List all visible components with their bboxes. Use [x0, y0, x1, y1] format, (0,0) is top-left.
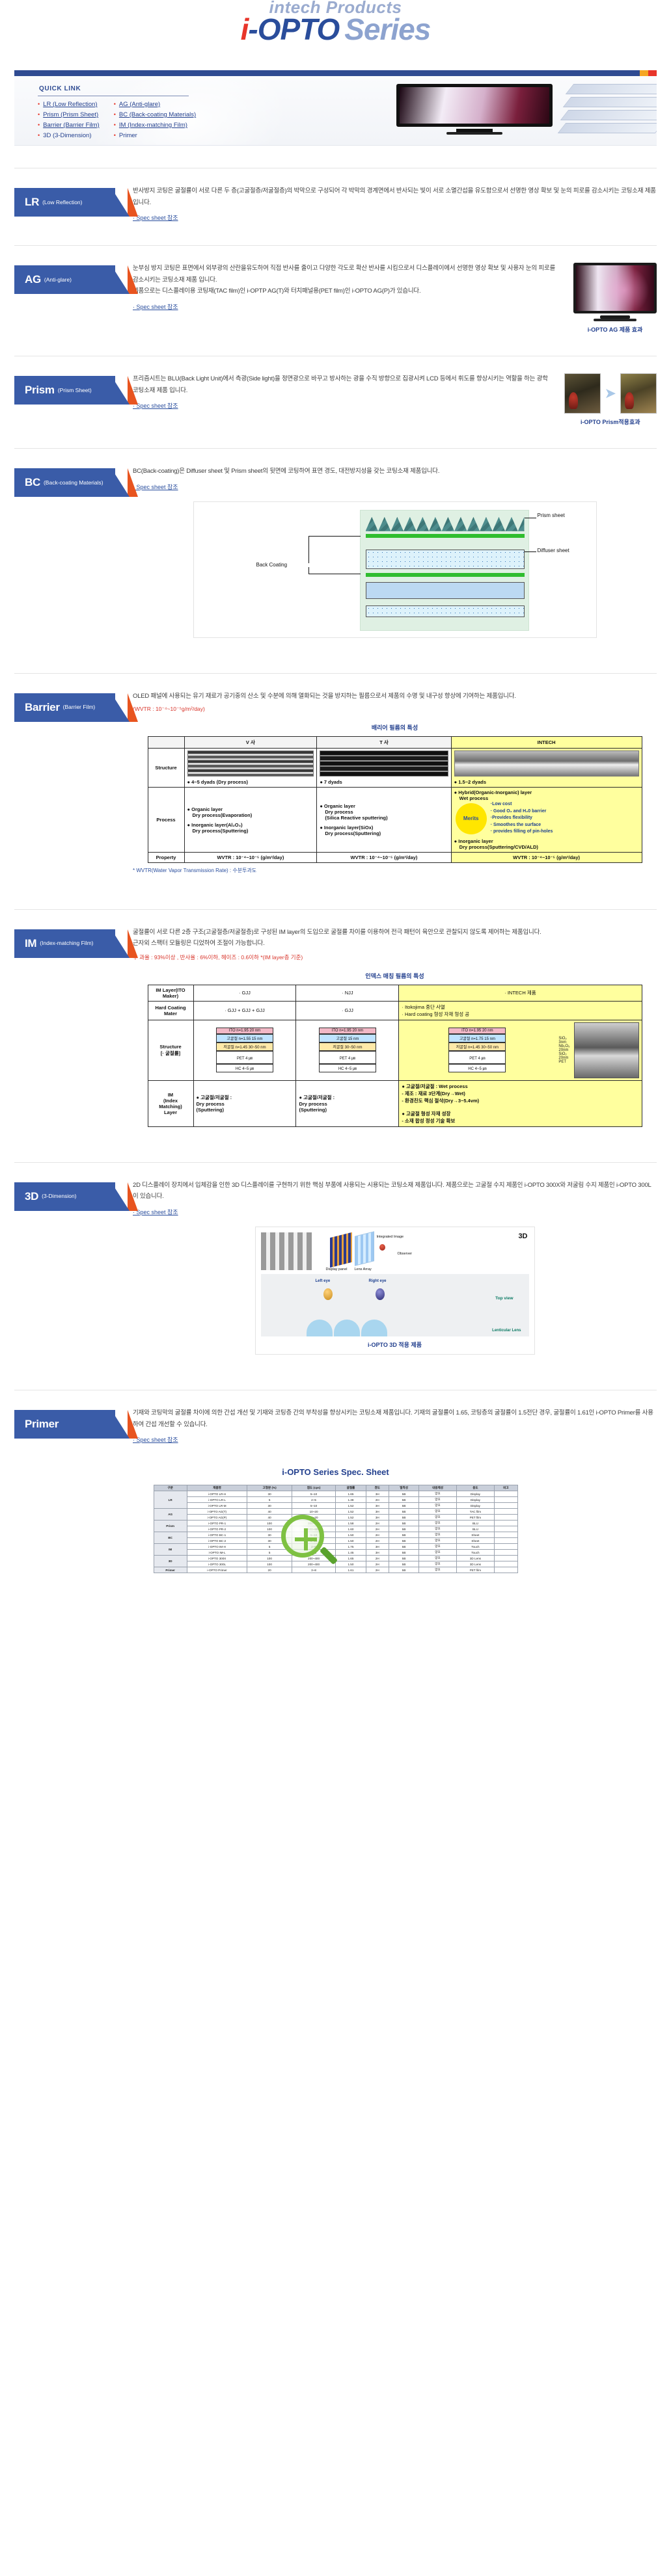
spec-sheet-link[interactable]: · Spec sheet 참조	[133, 1208, 178, 1216]
process-line: (Silica Reactive sputtering)	[320, 815, 448, 821]
section-abbr: AG	[25, 273, 41, 286]
row-header: Property	[148, 852, 184, 862]
spec-cell: 1.52	[336, 1509, 366, 1515]
layer-pet: PET 4 ㎛	[448, 1051, 506, 1064]
spec-cell: 5B	[389, 1491, 418, 1497]
cell-structure-v: ● 4~5 dyads (Dry process)	[184, 749, 317, 788]
prism-sheet-layer	[366, 517, 525, 531]
spec-cell: i-OPTO 300L	[187, 1561, 247, 1567]
quick-link-item[interactable]: • BC (Back-coating Materials)	[114, 111, 196, 118]
quick-link-panel: QUICK LINK • LR (Low Reflection) • Prism…	[14, 70, 657, 146]
section-tag-wrap: Barrier (Barrier Film)	[14, 691, 118, 874]
spec-group-label: BC	[154, 1532, 187, 1544]
quick-link-item[interactable]: • AG (Anti-glare)	[114, 101, 196, 108]
section-fullname: (Anti-glare)	[44, 276, 72, 284]
layer-ito: ITO n=1.95 20 nm	[319, 1028, 376, 1034]
table-row: AGi-OPTO AG(T)4010~201.523H5B양호TAC film	[154, 1509, 517, 1515]
quick-link-item[interactable]: • Prism (Prism Sheet)	[38, 111, 100, 118]
merit-item: ·Provides flexibility	[491, 815, 553, 822]
lens-array-label: Lens Array	[355, 1268, 372, 1271]
table-header-row: IM Layer(ITO Maker) · GJJ · NJJ · INTECH…	[148, 985, 642, 1001]
section-body: 프리즘시트는 BLU(Back Light Unit)에서 측광(Side li…	[118, 373, 657, 426]
spec-cell: 양호	[419, 1556, 456, 1561]
section-tag-ag: AG (Anti-glare)	[14, 265, 115, 294]
film-layer	[560, 110, 657, 120]
magnifier-icon[interactable]	[281, 1515, 341, 1574]
title-i: i	[241, 12, 249, 46]
quick-link-column-1: • LR (Low Reflection) • Prism (Prism She…	[38, 101, 100, 139]
quick-link-label: AG (Anti-glare)	[119, 101, 160, 108]
figure-caption: i-OPTO 3D 적용 제품	[261, 1340, 529, 1349]
photo-before	[564, 373, 601, 414]
row-header: Process	[148, 788, 184, 853]
spec-cell: 5B	[389, 1526, 418, 1532]
cell-hardcoat-1: · GJJ + GJJ + GJJ	[193, 1001, 296, 1020]
three-d-figure: Display panel Lens Array Integrated Imag…	[255, 1227, 535, 1355]
bullet-icon: •	[114, 133, 116, 139]
reflector-layer	[366, 605, 525, 617]
spec-cell: 3D Lens	[456, 1561, 494, 1567]
barrier-table-title: 배리어 필름의 특성	[133, 723, 657, 732]
polymer-stack-image	[187, 750, 314, 777]
section-barrier: Barrier (Barrier Film) OLED 패널에 사용되는 유기 …	[0, 674, 671, 874]
merit-item: · Smoothes the surface	[491, 822, 553, 829]
spec-cell: i-OPTO 300X	[187, 1556, 247, 1561]
spec-group-label: LR	[154, 1491, 187, 1509]
sem-annotations: SiO₂ 3nm Nb₂O₅ 20nm SiO₂ 20nm PET	[556, 1037, 569, 1064]
sem-cross-section-image	[454, 750, 639, 777]
table-row-process: Process ● Organic layer Dry process(Evap…	[148, 788, 642, 853]
dyads-note: ● 1.5~2 dyads	[454, 779, 639, 785]
cell-structure-intech: ITO n=1.95 20 nm 고굴절 n=1.75 15 nm 저굴절 n=…	[399, 1020, 642, 1080]
spec-group-label: Prism	[154, 1520, 187, 1532]
sem-image	[574, 1022, 639, 1078]
leader-line	[308, 536, 361, 537]
tv-base	[594, 319, 637, 321]
cell-property-t: WVTR : 10⁻⁴~10⁻⁵ (g/m²/day)	[317, 852, 451, 862]
section-bc: BC (Back-coating Materials) BC(Back-coat…	[0, 449, 671, 638]
leader-line	[308, 574, 361, 574]
back-coating-layer	[366, 573, 525, 577]
ag-product-figure: i-OPTO AG 제품 효과	[573, 263, 657, 334]
integral-imaging-diagram: Display panel Lens Array Integrated Imag…	[317, 1232, 529, 1270]
tv-illustration	[573, 263, 657, 321]
index-matching-table: IM Layer(ITO Maker) · GJJ · NJJ · INTECH…	[148, 985, 642, 1127]
spec-group-label: 3D	[154, 1556, 187, 1567]
spec-cell: i-OPTO BC-2	[187, 1538, 247, 1544]
section-im: IM (Index-matching Film) 굴절률이 서로 다른 2층 구…	[0, 910, 671, 1127]
tv-screen	[396, 84, 553, 127]
quick-link-label: Primer	[119, 132, 137, 139]
spec-cell: 양호	[419, 1561, 456, 1567]
layer-high-index: 고굴절 n=1.55 15 nm	[216, 1034, 273, 1042]
row-header-hardcoat: Hard Coating Mater	[148, 1001, 193, 1020]
spec-cell: 5B	[389, 1538, 418, 1544]
row-header: Structure	[148, 749, 184, 788]
leader-line	[308, 536, 309, 563]
section-abbr: Prism	[25, 384, 55, 397]
process-line: Dry process(Sputtering/CVD/ALD)	[454, 844, 639, 850]
quick-link-body: QUICK LINK • LR (Low Reflection) • Prism…	[14, 76, 657, 146]
cell-process-v: ● Organic layer Dry process(Evaporation)…	[184, 788, 317, 853]
back-coating-layer	[366, 534, 525, 538]
cell-im-process-2: ● 고굴절/저굴절 : Dry process (Sputtering)	[296, 1080, 399, 1126]
spec-cell: i-OPTO IM-L	[187, 1550, 247, 1556]
spec-cell: 5B	[389, 1503, 418, 1509]
quick-link-item[interactable]: • LR (Low Reflection)	[38, 101, 100, 108]
quick-link-rule	[38, 96, 189, 96]
section-paragraph: 프리즘시트는 BLU(Back Light Unit)에서 측광(Side li…	[133, 373, 549, 396]
spec-cell: 5	[247, 1497, 292, 1503]
quick-link-label: Prism (Prism Sheet)	[43, 111, 98, 118]
table-header-row: 구분 제품명 고형분 (%) 점도 (cps) 굴절률 경도 밀착성 내용제성 …	[154, 1485, 517, 1491]
merit-item: · Good O₂ and H₂0 barrier	[491, 808, 553, 816]
title-opto: -OPTO	[248, 12, 339, 46]
page-title: i-OPTOSeries	[0, 12, 671, 47]
section-tag-prism: Prism (Prism Sheet)	[14, 376, 115, 405]
quick-link-column-2: • AG (Anti-glare) • BC (Back-coating Mat…	[114, 101, 196, 139]
col-head-t: T 사	[317, 737, 451, 749]
spec-cell: 3H	[366, 1491, 389, 1497]
spec-cell: 양호	[419, 1520, 456, 1526]
process-line: Dry process(Evaporation)	[187, 812, 314, 818]
spec-cell: Touch	[456, 1544, 494, 1550]
section-paragraph: OLED 패널에 사용되는 유기 재료가 공기중의 산소 및 수분에 의해 열화…	[133, 691, 657, 702]
col-head-v: V 사	[184, 737, 317, 749]
quick-link-item[interactable]: • 3D (3-Dimension)	[38, 132, 100, 139]
spec-cell: 양호	[419, 1550, 456, 1556]
integrated-image-label: Integrated Image	[377, 1235, 404, 1239]
spec-cell	[495, 1509, 517, 1515]
spec-cell: 3H	[366, 1503, 389, 1509]
spec-cell: 1.38	[336, 1497, 366, 1503]
spec-cell: 양호	[419, 1567, 456, 1573]
figure-caption: i-OPTO Prism적용효과	[564, 418, 657, 426]
section-paragraph: 기재와 코팅막의 굴절률 차이에 의한 간섭 개선 및 기재와 코팅층 간의 부…	[133, 1407, 657, 1430]
cell-structure-1: ITO n=1.95 20 nm 고굴절 n=1.55 15 nm 저굴절 n=…	[193, 1020, 296, 1080]
spec-cell: 5B	[389, 1556, 418, 1561]
display-panel	[330, 1232, 352, 1268]
table-row: i-OPTO LR-M305~101.523H5B양호Display	[154, 1503, 517, 1509]
layer-stack: ITO n=1.95 20 nm 고굴절 n=1.55 15 nm 저굴절 n=…	[216, 1028, 273, 1072]
spec-cell	[495, 1550, 517, 1556]
quick-link-label: LR (Low Reflection)	[43, 101, 97, 108]
spec-cell	[495, 1520, 517, 1526]
spec-cell: 5B	[389, 1544, 418, 1550]
spec-cell	[495, 1497, 517, 1503]
left-eye-icon	[323, 1288, 333, 1300]
row-header-structure: Structure [· 굴절률]	[148, 1020, 193, 1080]
col-head: 구분	[154, 1485, 187, 1491]
process-line: ● Organic layer	[187, 806, 314, 812]
tv-screen	[573, 263, 657, 313]
dyads-note: ● 4~5 dyads (Dry process)	[187, 779, 314, 785]
section-body: 반사방지 코팅은 굴절률이 서로 다른 두 층(고굴절층/저굴절층)의 박막으로…	[118, 185, 657, 223]
spec-cell	[495, 1532, 517, 1538]
sem-label: 20nm	[558, 1056, 569, 1060]
spec-cell: 2H	[366, 1526, 389, 1532]
wvtr-footnote: * WVTR(Water Vapor Transmission Rate) : …	[133, 867, 657, 874]
spec-cell: 5B	[389, 1520, 418, 1526]
spec-cell: i-OPTO PR-1	[187, 1520, 247, 1526]
left-eye-label: Left eye	[316, 1279, 331, 1283]
spec-cell: 5~10	[292, 1503, 335, 1509]
prism-sheet-label: Prism sheet	[538, 512, 565, 518]
spec-cell: 2~5	[292, 1497, 335, 1503]
spec-cell: i-OPTO PR-2	[187, 1526, 247, 1532]
layer-ito: ITO n=1.95 20 nm	[216, 1028, 273, 1034]
section-tag-wrap: BC (Back-coating Materials)	[14, 466, 118, 638]
process-line: ● Hybrid(Organic-Inorganic) layer	[454, 790, 639, 795]
quick-link-item[interactable]: • Primer	[114, 132, 196, 139]
quick-link-title: QUICK LINK	[39, 85, 81, 92]
layer-hc: HC 4~5 ㎛	[448, 1064, 506, 1072]
layer-ito: ITO n=1.95 20 nm	[448, 1028, 506, 1034]
section-paragraph: 굴절률이 서로 다른 2층 구조(고굴절층/저굴절층)로 구성된 IM laye…	[133, 927, 657, 938]
quick-link-label: IM (Index-matching Film)	[119, 122, 187, 129]
three-d-top: Display panel Lens Array Integrated Imag…	[261, 1232, 529, 1270]
layer-low-index: 저굴절 n=1.45 30~50 nm	[448, 1042, 506, 1051]
section-primer: Primer 기재와 코팅막의 굴절률 차이에 의한 간섭 개선 및 기재와 코…	[0, 1390, 671, 1445]
section-tag-wrap: IM (Index-matching Film)	[14, 927, 118, 1127]
section-prism: Prism (Prism Sheet) 프리즘시트는 BLU(Back Ligh…	[0, 356, 671, 426]
right-eye-icon	[376, 1288, 385, 1300]
section-ag: AG (Anti-glare) 눈부심 방지 코팅은 표면에서 외부광의 산란을…	[0, 246, 671, 334]
merits-list: ·Low cost · Good O₂ and H₂0 barrier ·Pro…	[491, 801, 553, 836]
section-body: OLED 패널에 사용되는 유기 재료가 공기중의 산소 및 수분에 의해 열화…	[118, 691, 657, 874]
section-tag-3d: 3D (3-Dimension)	[14, 1182, 115, 1211]
cell-hardcoat-2: · GJJ	[296, 1001, 399, 1020]
quick-link-item[interactable]: • IM (Index-matching Film)	[114, 122, 196, 129]
table-row: i-OPTO LR-L52~51.382H5B양호Display	[154, 1497, 517, 1503]
cell-structure-t: ● 7 dyads	[317, 749, 451, 788]
section-fullname: (Barrier Film)	[63, 704, 96, 711]
arrow-right-icon: ➤	[605, 385, 616, 402]
sem-label: Nb₂O₅	[558, 1044, 569, 1048]
spec-cell: 3H	[366, 1515, 389, 1520]
col-head: 점도 (cps)	[292, 1485, 335, 1491]
spec-cell: TAC film	[456, 1509, 494, 1515]
spec-cell: 양호	[419, 1515, 456, 1520]
display-panel-label: Display panel	[326, 1268, 348, 1271]
merits-block: Merits ·Low cost · Good O₂ and H₂0 barri…	[454, 801, 639, 836]
spec-cell: 양호	[419, 1544, 456, 1550]
cell-property-intech: WVTR : 10⁻⁴~10⁻⁵ (g/m²/day)	[451, 852, 642, 862]
spec-cell: 5B	[389, 1550, 418, 1556]
spec-cell: 3H	[366, 1550, 389, 1556]
spec-cell: 양호	[419, 1532, 456, 1538]
right-eye-label: Right eye	[369, 1279, 387, 1283]
spec-sheet-link[interactable]: · Spec sheet 참조	[133, 1435, 178, 1444]
table-row-property: Property WVTR : 10⁻⁴~10⁻⁵ (g/m²/day) WVT…	[148, 852, 642, 862]
spec-cell: i-OPTO Primer	[187, 1567, 247, 1573]
col-head: 밀착성	[389, 1485, 418, 1491]
layer-pet: PET 4 ㎛	[216, 1051, 273, 1064]
section-abbr: IM	[25, 937, 36, 950]
spec-cell: 양호	[419, 1491, 456, 1497]
bullet-icon: •	[114, 122, 116, 128]
diffuser-sheet-label: Diffuser sheet	[538, 548, 569, 553]
spec-sheet-link[interactable]: · Spec sheet 참조	[133, 302, 178, 311]
spec-cell: 2H	[366, 1538, 389, 1544]
spec-cell: 2H	[366, 1497, 389, 1503]
spec-sheet-link[interactable]: · Spec sheet 참조	[133, 483, 178, 491]
page-hero: intech Products i-OPTOSeries	[0, 0, 671, 70]
spec-group-label: AG	[154, 1509, 187, 1520]
film-layer	[566, 84, 657, 94]
merit-item: · provides filling of pin-holes	[491, 829, 553, 836]
bullet-icon: •	[38, 112, 40, 118]
top-view-label: Top view	[495, 1296, 513, 1301]
spec-cell	[495, 1561, 517, 1567]
spec-cell: PET film	[456, 1515, 494, 1520]
bullet-icon: •	[114, 112, 116, 118]
quick-link-item[interactable]: • Barrier (Barrier Film)	[38, 122, 100, 129]
cell-hardcoat-intech: · Itokojima 중단 사열 · Hard coating 형성 자재 형…	[399, 1001, 642, 1020]
leader-line	[308, 567, 309, 574]
section-fullname: (Prism Sheet)	[58, 387, 92, 394]
section-paragraph: BC(Back-coating)은 Diffuser sheet 및 Prism…	[133, 466, 657, 477]
spec-cell: Display	[456, 1491, 494, 1497]
quick-link-label: Barrier (Barrier Film)	[43, 122, 100, 129]
spec-cell	[495, 1556, 517, 1561]
spec-cell: 5B	[389, 1515, 418, 1520]
section-fullname: (Low Reflection)	[42, 199, 82, 206]
film-layers-illustration	[566, 80, 657, 142]
section-tag-wrap: LR (Low Reflection)	[14, 185, 118, 223]
hero-artwork	[240, 76, 657, 146]
section-tag-wrap: Prism (Prism Sheet)	[14, 373, 118, 426]
layer-pet: PET 4 ㎛	[319, 1051, 376, 1064]
spec-cell: 양호	[419, 1503, 456, 1509]
top-view-diagram: Left eye Right eye Top view Lenticular L…	[261, 1274, 529, 1336]
bullet-icon: •	[38, 101, 40, 107]
spec-cell: 1.65	[336, 1491, 366, 1497]
cell-structure-2: ITO n=1.95 20 nm 고굴절 15 nm 저굴절 30~50 nm …	[296, 1020, 399, 1080]
diffuser-sheet-layer	[366, 550, 525, 569]
col-head: 제품명	[187, 1485, 247, 1491]
sem-label: PET	[558, 1060, 569, 1064]
section-paragraph: 근자외 스팩터 모듈링은 디었하여 조절이 가능합니다.	[133, 938, 657, 949]
section-paragraph: 2D 디스플레이 장치에서 입체감을 인한 3D 디스플레이를 구현하기 위한 …	[133, 1180, 657, 1202]
layer-high-index: 고굴절 15 nm	[319, 1034, 376, 1042]
spec-cell: 5B	[389, 1532, 418, 1538]
spec-group-label: Primer	[154, 1567, 187, 1573]
cell-property-v: WVTR : 10⁻⁴~10⁻⁵ (g/m²/day)	[184, 852, 317, 862]
section-fullname: (Index-matching Film)	[40, 940, 93, 947]
im-table-title: 인덱스 매칭 필름의 특성	[133, 972, 657, 980]
dyads-note: ● 7 dyads	[320, 779, 448, 785]
integrated-image-object	[379, 1244, 385, 1251]
spec-cell: 5B	[389, 1509, 418, 1515]
layer-stack	[360, 510, 529, 631]
process-line: ● Inorganic layer(SiOx)	[320, 825, 448, 830]
magnifier-lens	[281, 1515, 324, 1558]
spec-cell	[495, 1567, 517, 1573]
spec-cell: i-OPTO AG(T)	[187, 1509, 247, 1515]
process-line: ● Inorganic layer	[454, 838, 639, 844]
spec-cell	[495, 1503, 517, 1509]
spec-cell: 3D Lens	[456, 1556, 494, 1561]
spec-cell: i-OPTO LR-L	[187, 1497, 247, 1503]
spec-cell: 2H	[366, 1532, 389, 1538]
table-row-structure: Structure ● 4~5 dyads (Dry process) ● 7 …	[148, 749, 642, 788]
accent-block-red	[648, 70, 657, 76]
spec-cell: i-OPTO LR-M	[187, 1503, 247, 1509]
process-line: Dry process	[320, 809, 448, 815]
tv-base	[446, 132, 502, 135]
section-body: 2D 디스플레이 장치에서 입체감을 인한 3D 디스플레이를 구현하기 위한 …	[118, 1180, 657, 1355]
spec-cell: 5~10	[292, 1491, 335, 1497]
spec-cell: 2H	[366, 1556, 389, 1561]
tv-illustration	[396, 84, 553, 140]
table-header-row: V 사 T 사 INTECH	[148, 737, 642, 749]
process-line: Dry process(Sputtering)	[320, 830, 448, 836]
col-head: 경도	[366, 1485, 389, 1491]
light-guide-plate	[366, 582, 525, 599]
section-abbr: 3D	[25, 1190, 38, 1203]
three-d-badge: 3D	[518, 1232, 527, 1240]
spec-cell: 40	[247, 1509, 292, 1515]
section-paragraph: 제품으로는 디스플레이용 코팅재(TAC film)인 i-OPTP AG(T)…	[133, 285, 558, 297]
layer-low-index: 저굴절 n=1.45 30~50 nm	[216, 1042, 273, 1051]
spec-cell: 2H	[366, 1520, 389, 1526]
col-head-blank	[148, 737, 184, 749]
section-tag-wrap: 3D (3-Dimension)	[14, 1180, 118, 1355]
spec-cell: Display	[456, 1497, 494, 1503]
cell-structure-intech: ● 1.5~2 dyads	[451, 749, 642, 788]
spec-cell: 5B	[389, 1497, 418, 1503]
section-abbr: Barrier	[25, 701, 60, 714]
section-abbr: LR	[25, 196, 39, 209]
bullet-icon: •	[38, 133, 40, 139]
photo-after	[620, 373, 657, 414]
barrier-characteristics-table: V 사 T 사 INTECH Structure ● 4~5 dyads (Dr…	[148, 736, 642, 863]
section-tag-wrap: AG (Anti-glare)	[14, 263, 118, 334]
spec-cell: i-OPTO AG(P)	[187, 1515, 247, 1520]
lens-photo	[261, 1232, 312, 1270]
lens-array	[355, 1231, 374, 1266]
layer-stack-image	[320, 750, 448, 777]
magnifier-handle	[319, 1547, 337, 1565]
section-fullname: (Back-coating Materials)	[44, 479, 103, 486]
section-body: 눈부심 방지 코팅은 표면에서 외부광의 산란을유도하여 직접 반사를 줄이고 …	[118, 263, 657, 334]
back-coating-diagram: Back Coating Prism sheet Diffuser sheet	[193, 501, 597, 638]
spec-sheet-link[interactable]: · Spec sheet 참조	[133, 213, 178, 222]
spec-cell: Sheet	[456, 1538, 494, 1544]
section-tag-im: IM (Index-matching Film)	[14, 929, 115, 958]
spec-cell: 양호	[419, 1509, 456, 1515]
title-series: Series	[344, 12, 430, 46]
section-abbr: BC	[25, 476, 40, 489]
layer-low-index: 저굴절 30~50 nm	[319, 1042, 376, 1051]
col-head: 굴절률	[336, 1485, 366, 1491]
spec-cell: 2H	[366, 1567, 389, 1573]
cell-process-t: ● Organic layer Dry process (Silica Reac…	[317, 788, 451, 853]
merits-label: Merits	[456, 803, 487, 834]
col-head: 고형분 (%)	[247, 1485, 292, 1491]
spec-cell: 3H	[366, 1544, 389, 1550]
section-fullname: (3-Dimension)	[42, 1193, 76, 1200]
spec-sheet-link[interactable]: · Spec sheet 참조	[133, 401, 178, 410]
spec-cell: Touch	[456, 1550, 494, 1556]
spec-cell: 5B	[389, 1561, 418, 1567]
spec-cell: 30	[247, 1491, 292, 1497]
product-page: intech Products i-OPTOSeries QUICK LINK …	[0, 0, 671, 1573]
spec-cell	[495, 1515, 517, 1520]
spec-cell: Display	[456, 1503, 494, 1509]
prism-product-figure: ➤ i-OPTO Prism적용효과	[564, 373, 657, 426]
